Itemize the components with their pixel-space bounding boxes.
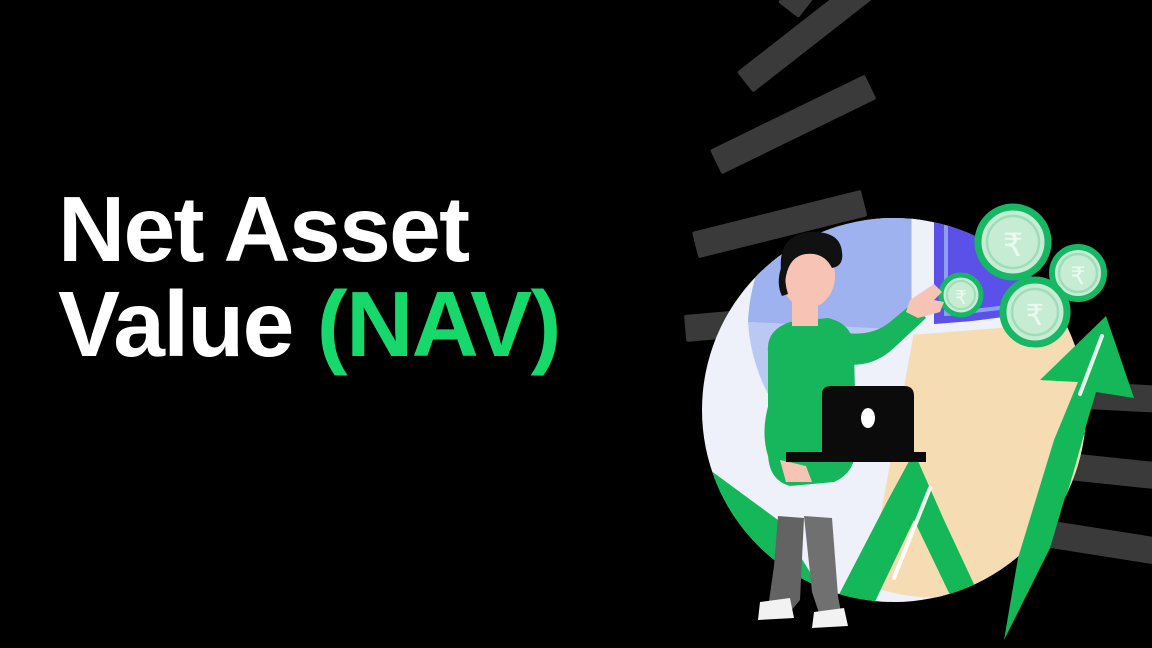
headline-acronym-nav: (NAV) [317,272,560,376]
rupee-coin-small: ₹ [941,275,981,315]
rupee-coin-large-2: ₹ [1003,280,1067,344]
laptop-logo [861,408,875,428]
rupee-symbol: ₹ [1070,262,1085,290]
headline-line-1: Net Asset [58,182,698,277]
laptop-base [786,452,926,462]
nav-illustration: ₹ ₹ ₹ [682,0,1152,648]
headline-line-2: Value (NAV) [58,277,698,372]
rupee-coin-large-1: ₹ [978,207,1048,277]
shoe-back [758,598,794,620]
poster-canvas: Net Asset Value (NAV) [0,0,1152,648]
rupee-symbol: ₹ [1026,298,1044,332]
rupee-symbol: ₹ [955,287,967,309]
rupee-symbol: ₹ [1003,226,1023,264]
page-title: Net Asset Value (NAV) [58,182,698,372]
shoe-front [812,608,848,628]
headline-line-2-white: Value [58,272,317,376]
arrow-dot [877,605,883,611]
